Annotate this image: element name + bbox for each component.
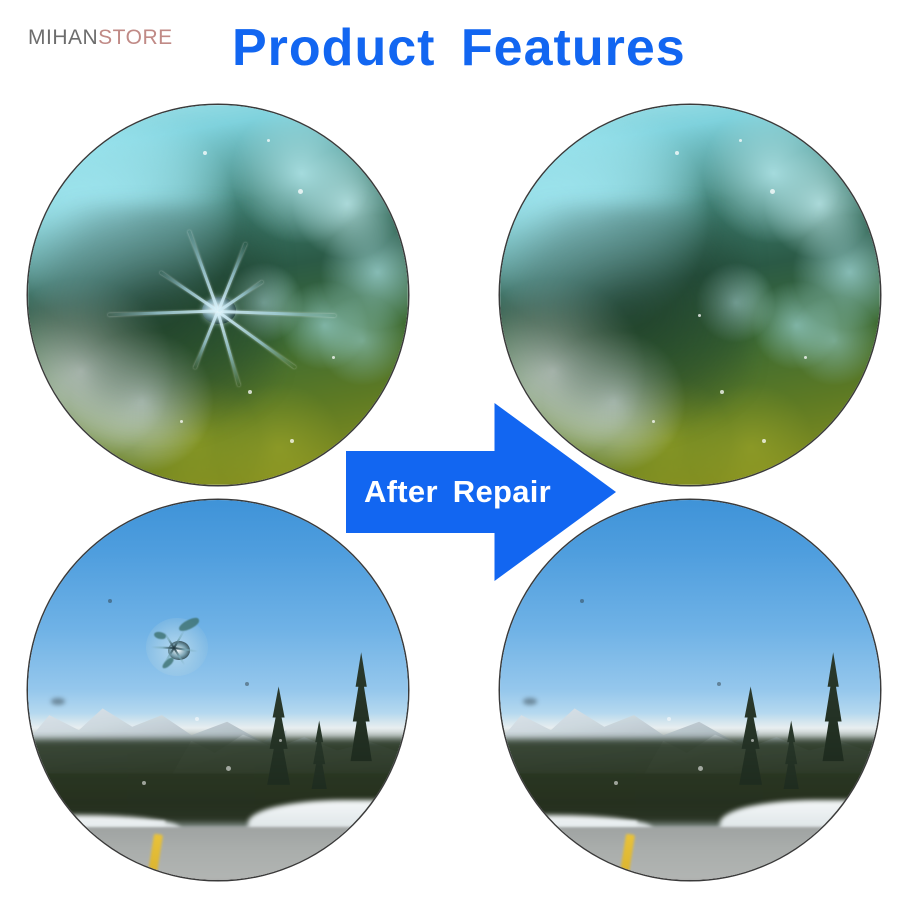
brand-logo: MIHANSTORE [28,26,173,50]
panel-top-right-after [500,105,880,485]
tree-shadow-mass [500,204,751,440]
glass-speck [298,189,303,194]
page-title: Product Features [232,18,686,78]
glass-grime [226,766,231,771]
glass-speck [203,151,207,155]
glass-grime [195,717,199,721]
brand-logo-prefix: MIHAN [28,26,98,49]
brand-logo-suffix: STORE [98,26,172,49]
glass-speck [804,356,807,359]
glass-speck [332,356,335,359]
windshield-chip-damage [146,618,208,676]
glass-speck [698,314,701,317]
panel-bottom-left-before [28,500,408,880]
glass-grime-dark [108,599,112,603]
road-surface [500,827,880,880]
glass-speck [675,151,679,155]
panel-bottom-right-after [500,500,880,880]
tree-shadow-mass [28,204,279,440]
glass-grime [698,766,703,771]
glass-grime-dark [580,599,584,603]
guardrail [523,821,637,825]
glass-grime [667,717,671,721]
road-surface [28,827,408,880]
panel-top-left-before [28,105,408,485]
glass-grime-dark [51,698,65,705]
guardrail [51,821,165,825]
glass-speck [770,189,775,194]
glass-grime-dark [523,698,537,705]
